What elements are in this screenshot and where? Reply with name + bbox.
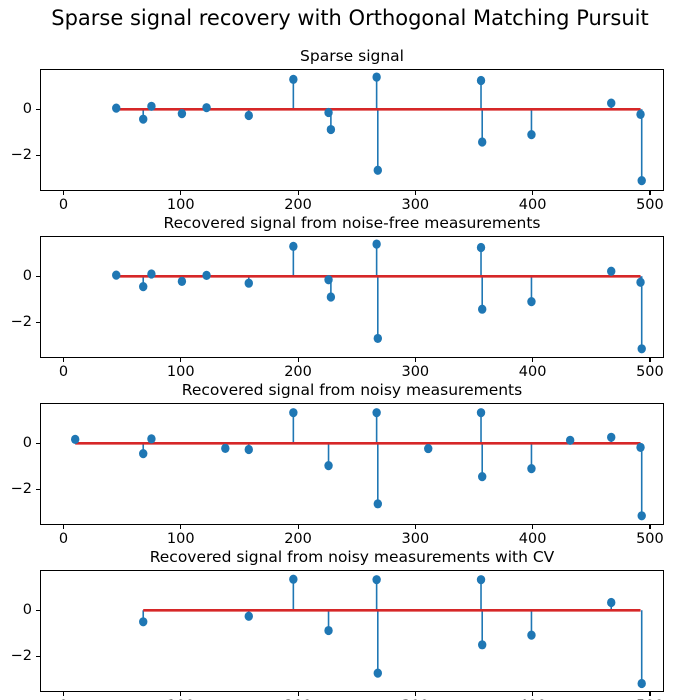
data-point xyxy=(374,499,382,508)
data-point xyxy=(324,275,332,284)
data-point xyxy=(147,434,155,443)
data-point xyxy=(424,444,432,453)
data-point xyxy=(478,640,486,649)
data-point xyxy=(636,443,644,452)
data-point xyxy=(139,617,147,626)
data-point xyxy=(607,433,615,442)
data-point xyxy=(636,278,644,287)
x-tick-mark xyxy=(63,692,64,696)
x-tick-mark xyxy=(180,191,181,195)
x-tick-label: 400 xyxy=(519,531,547,547)
x-tick-mark xyxy=(298,692,299,696)
data-point xyxy=(478,305,486,314)
data-point xyxy=(372,239,380,248)
x-tick-label: 500 xyxy=(636,197,664,213)
subplot-title: Recovered signal from noisy measurements… xyxy=(40,548,664,566)
data-markers xyxy=(112,239,646,353)
x-tick-mark xyxy=(532,525,533,529)
x-tick-mark xyxy=(415,525,416,529)
x-tick-mark xyxy=(298,358,299,362)
x-tick-mark xyxy=(532,191,533,195)
subplot-title: Recovered signal from noise-free measure… xyxy=(40,214,664,232)
plot-area xyxy=(40,570,664,692)
subplot-recovered-noisy: Recovered signal from noisy measurements… xyxy=(40,403,664,525)
x-tick-mark xyxy=(532,358,533,362)
data-point xyxy=(638,176,646,185)
x-tick-mark xyxy=(415,692,416,696)
y-tick-mark xyxy=(36,610,40,611)
stem-lines xyxy=(143,579,641,683)
x-tick-label: 300 xyxy=(401,197,429,213)
x-tick-label: 100 xyxy=(167,364,195,380)
data-point xyxy=(245,279,253,288)
plot-area xyxy=(40,69,664,191)
x-tick-mark xyxy=(415,191,416,195)
x-tick-mark xyxy=(63,358,64,362)
data-point xyxy=(289,408,297,417)
x-tick-mark xyxy=(649,692,650,696)
data-point xyxy=(147,102,155,111)
data-point xyxy=(289,575,297,584)
x-tick-label: 0 xyxy=(59,364,68,380)
x-tick-mark xyxy=(63,191,64,195)
data-point xyxy=(374,334,382,343)
y-tick-mark xyxy=(36,155,40,156)
x-tick-label: 100 xyxy=(167,531,195,547)
data-markers xyxy=(139,575,646,688)
subplot-recovered-noise-free: Recovered signal from noise-free measure… xyxy=(40,236,664,358)
data-point xyxy=(372,408,380,417)
data-point xyxy=(71,435,79,444)
x-tick-mark xyxy=(298,525,299,529)
data-point xyxy=(477,243,485,252)
x-tick-mark xyxy=(63,525,64,529)
x-tick-mark xyxy=(415,358,416,362)
data-point xyxy=(139,115,147,124)
y-tick-mark xyxy=(36,276,40,277)
data-point xyxy=(327,292,335,301)
y-tick-mark xyxy=(36,322,40,323)
x-tick-mark xyxy=(649,191,650,195)
data-point xyxy=(324,108,332,117)
x-tick-label: 0 xyxy=(59,197,68,213)
y-tick-mark xyxy=(36,489,40,490)
x-tick-label: 500 xyxy=(636,364,664,380)
x-tick-label: 300 xyxy=(401,531,429,547)
data-point xyxy=(527,464,535,473)
subplot-recovered-noisy-cv: Recovered signal from noisy measurements… xyxy=(40,570,664,692)
x-tick-label: 0 xyxy=(59,531,68,547)
data-point xyxy=(202,103,210,112)
y-tick-label: 0 xyxy=(0,101,32,117)
data-point xyxy=(289,242,297,251)
data-point xyxy=(527,130,535,139)
data-point xyxy=(566,436,574,445)
y-tick-mark xyxy=(36,656,40,657)
y-tick-label: 0 xyxy=(0,602,32,618)
data-point xyxy=(636,110,644,119)
data-point xyxy=(374,166,382,175)
plot-area xyxy=(40,403,664,525)
data-point xyxy=(289,75,297,84)
x-tick-mark xyxy=(298,191,299,195)
subplot-title: Recovered signal from noisy measurements xyxy=(40,381,664,399)
x-tick-mark xyxy=(532,692,533,696)
subplot-sparse-signal: Sparse signal01002003004005000−2 xyxy=(40,69,664,191)
x-tick-mark xyxy=(180,525,181,529)
data-point xyxy=(245,612,253,621)
x-tick-label: 200 xyxy=(284,531,312,547)
data-point xyxy=(372,72,380,81)
y-tick-label: −2 xyxy=(0,314,32,330)
data-point xyxy=(477,76,485,85)
y-tick-mark xyxy=(36,443,40,444)
x-tick-label: 300 xyxy=(401,364,429,380)
data-point xyxy=(245,111,253,120)
x-tick-label: 400 xyxy=(519,364,547,380)
data-point xyxy=(202,271,210,280)
x-tick-mark xyxy=(180,358,181,362)
data-point xyxy=(607,267,615,276)
subplot-title: Sparse signal xyxy=(40,47,664,65)
x-tick-label: 200 xyxy=(284,197,312,213)
x-tick-label: 400 xyxy=(519,197,547,213)
y-tick-label: −2 xyxy=(0,481,32,497)
x-tick-mark xyxy=(649,358,650,362)
data-point xyxy=(147,269,155,278)
data-point xyxy=(221,444,229,453)
data-point xyxy=(607,598,615,607)
y-tick-label: −2 xyxy=(0,648,32,664)
data-point xyxy=(139,282,147,291)
stem-lines xyxy=(116,77,641,181)
data-point xyxy=(638,511,646,520)
data-point xyxy=(178,277,186,286)
data-point xyxy=(374,669,382,678)
data-point xyxy=(139,449,147,458)
figure-suptitle: Sparse signal recovery with Orthogonal M… xyxy=(0,6,700,30)
data-point xyxy=(527,631,535,640)
data-point xyxy=(478,137,486,146)
data-point xyxy=(477,408,485,417)
data-markers xyxy=(71,408,646,520)
data-point xyxy=(178,109,186,118)
plot-area xyxy=(40,236,664,358)
data-point xyxy=(477,575,485,584)
x-tick-mark xyxy=(180,692,181,696)
data-point xyxy=(324,626,332,635)
y-tick-label: 0 xyxy=(0,268,32,284)
data-point xyxy=(324,461,332,470)
data-point xyxy=(478,472,486,481)
stem-lines xyxy=(75,413,642,516)
x-tick-label: 500 xyxy=(636,531,664,547)
data-point xyxy=(527,297,535,306)
figure-canvas: Sparse signal recovery with Orthogonal M… xyxy=(0,0,700,700)
y-tick-mark xyxy=(36,109,40,110)
y-tick-label: 0 xyxy=(0,435,32,451)
y-tick-label: −2 xyxy=(0,147,32,163)
x-tick-mark xyxy=(649,525,650,529)
data-point xyxy=(372,575,380,584)
data-markers xyxy=(112,72,646,185)
data-point xyxy=(607,98,615,107)
x-tick-label: 100 xyxy=(167,197,195,213)
data-point xyxy=(327,125,335,134)
data-point xyxy=(112,104,120,113)
data-point xyxy=(638,344,646,353)
data-point xyxy=(638,679,646,688)
x-tick-label: 200 xyxy=(284,364,312,380)
data-point xyxy=(112,271,120,280)
stem-lines xyxy=(116,244,641,349)
data-point xyxy=(245,445,253,454)
